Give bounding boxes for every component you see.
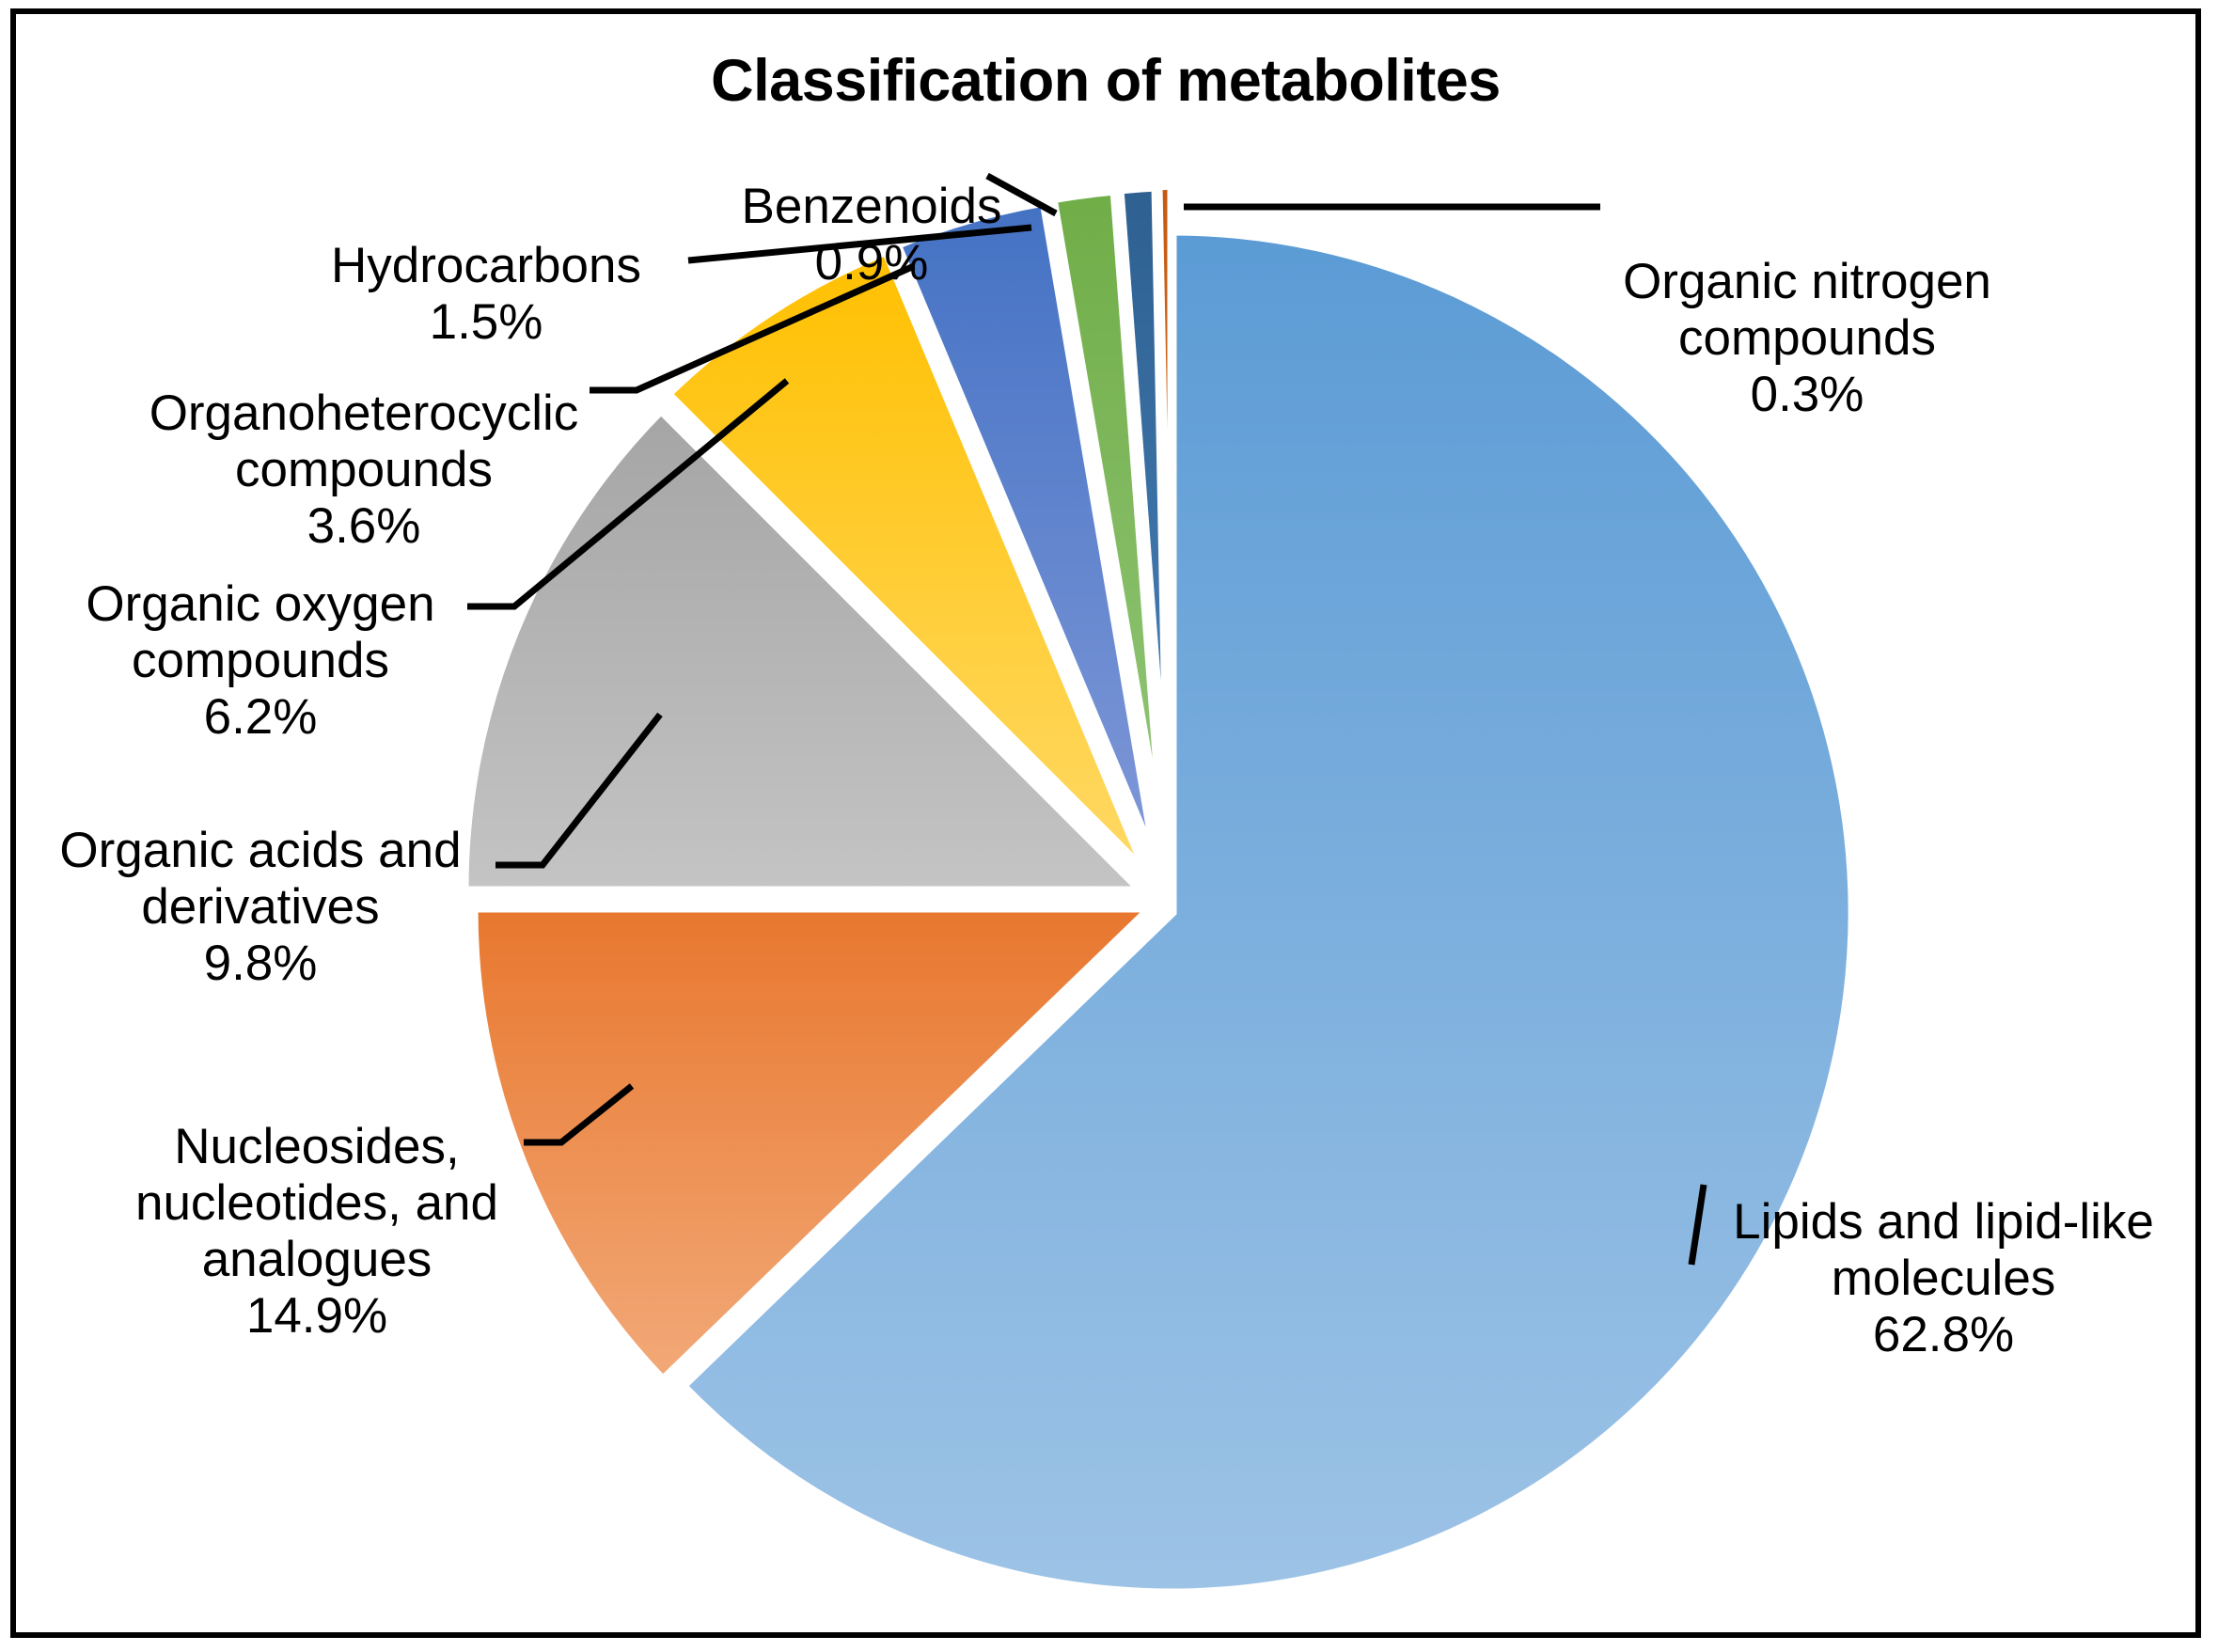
slice-label-organic-acids: Organic acids and derivatives 9.8% (25, 823, 496, 992)
slice-label-organic-nitrogen: Organic nitrogen compounds 0.3% (1605, 254, 2009, 423)
slice-label-organoheterocyclic: Organoheterocyclic compounds 3.6% (119, 385, 608, 555)
slice-label-nucleosides: Nucleosides, nucleotides, and analogues … (110, 1119, 524, 1345)
slice-label-benzenoids: Benzenoids 0.9% (712, 179, 1031, 291)
figure-frame: Classification of metabolites (10, 8, 2201, 1638)
slice-label-hydrocarbons: Hydrocarbons 1.5% (298, 238, 674, 351)
slice-label-organic-oxygen: Organic oxygen compounds 6.2% (35, 576, 486, 746)
slice-label-lipids: Lipids and lipid-like molecules 62.8% (1708, 1194, 2179, 1363)
